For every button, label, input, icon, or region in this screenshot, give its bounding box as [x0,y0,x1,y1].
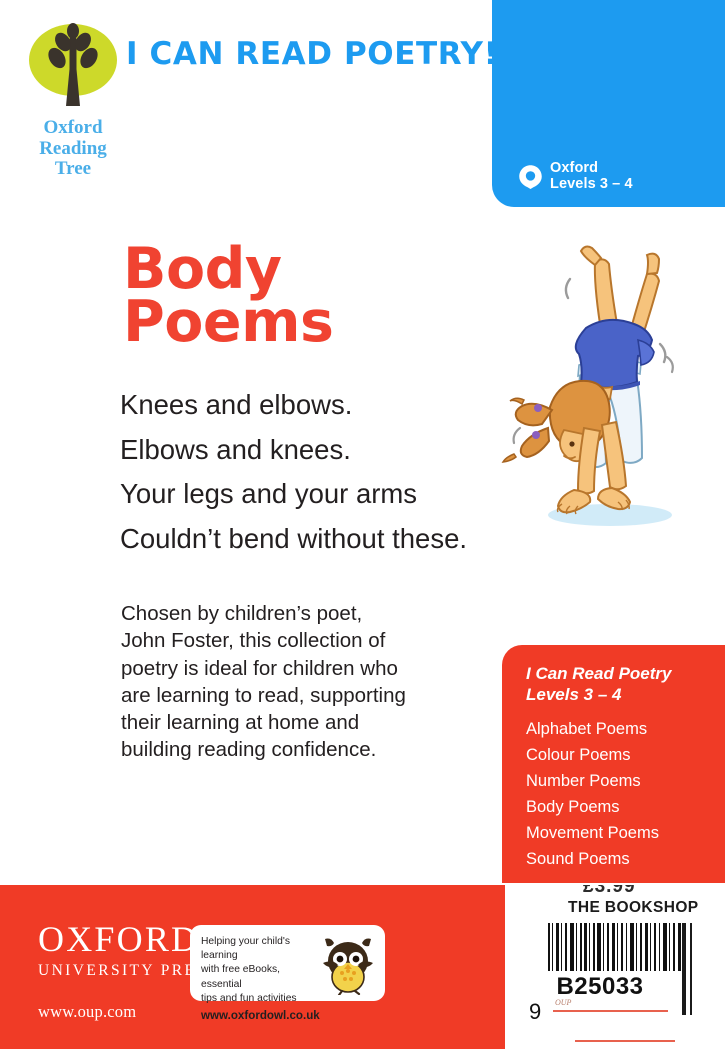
girl-doing-handstand-illustration [492,232,722,537]
oxford-owl-url[interactable]: www.oxfordowl.co.uk [201,1009,385,1022]
blurb-line: poetry is ideal for children who [121,655,471,682]
blurb-text: Chosen by children’s poet, John Foster, … [121,600,471,764]
oxford-reading-tree-logo: Oxford Reading Tree [19,20,127,180]
logo-line-3: Tree [19,159,127,180]
blurb-line: Chosen by children’s poet, [121,600,471,627]
list-item: Colour Poems [526,742,725,768]
list-item: Movement Poems [526,820,725,846]
oxford-levels-panel: Oxford Levels 3 – 4 [492,0,725,207]
oxford-owl-line1: Helping your child's learning [201,935,323,963]
oxford-owl-promo[interactable]: Helping your child's learning with free … [190,925,385,1001]
series-list-heading-line2: Levels 3 – 4 [526,684,725,705]
list-item: Body Poems [526,794,725,820]
series-list-items: Alphabet Poems Colour Poems Number Poems… [526,716,725,872]
list-item: Sound Poems [526,846,725,872]
oxford-levels-text: Oxford Levels 3 – 4 [550,160,633,193]
oxford-levels-line1: Oxford [550,160,633,177]
oxford-owl-line3: tips and fun activities [201,992,323,1006]
blurb-line: their learning at home and [121,709,471,736]
ean-guard-bar-2 [690,923,692,1015]
tree-icon [27,20,119,114]
oxford-reading-tree-label: Oxford Reading Tree [19,118,127,180]
ean-leading-digit: 9 [529,999,541,1025]
page-title: Body Poems [123,243,333,349]
sticker-rule-1 [553,1010,668,1012]
series-list-heading-line1: I Can Read Poetry [526,663,725,684]
price-ghost-text: £3.99 [583,885,636,898]
blurb-line: John Foster, this collection of [121,627,471,654]
oxford-owl-line2: with free eBooks, essential [201,963,323,991]
sticker-ghost-mark: OUP [555,998,571,1007]
oxford-roundel-icon [518,164,543,189]
oxford-owl-text: Helping your child's learning with free … [201,935,323,1006]
book-back-cover: Oxford Levels 3 – 4 Oxford Reading Tree [0,0,725,1049]
oxford-levels-badge: Oxford Levels 3 – 4 [518,160,633,193]
owl-icon [317,933,379,995]
oxford-levels-line2: Levels 3 – 4 [550,176,633,193]
blurb-line: are learning to read, supporting [121,682,471,709]
list-item: Alphabet Poems [526,716,725,742]
series-list-panel: I Can Read Poetry Levels 3 – 4 Alphabet … [502,645,725,883]
publisher-url[interactable]: www.oup.com [38,1002,136,1022]
sticker-rule-2 [575,1040,675,1042]
series-list-heading: I Can Read Poetry Levels 3 – 4 [526,663,725,706]
logo-line-2: Reading [19,139,127,160]
logo-line-1: Oxford [19,118,127,139]
ean-guard-bar [682,923,686,1015]
shop-name: THE BOOKSHOP [568,899,699,917]
title-line-2: Poems [123,296,333,349]
blurb-line: building reading confidence. [121,736,471,763]
barcode-sticker: £3.99 THE BOOKSHOP [505,885,725,1049]
list-item: Number Poems [526,768,725,794]
barcode-number: B25033 [505,973,725,1001]
barcode-bars-icon [548,923,682,971]
series-banner: I CAN READ POETRY! [126,36,498,72]
